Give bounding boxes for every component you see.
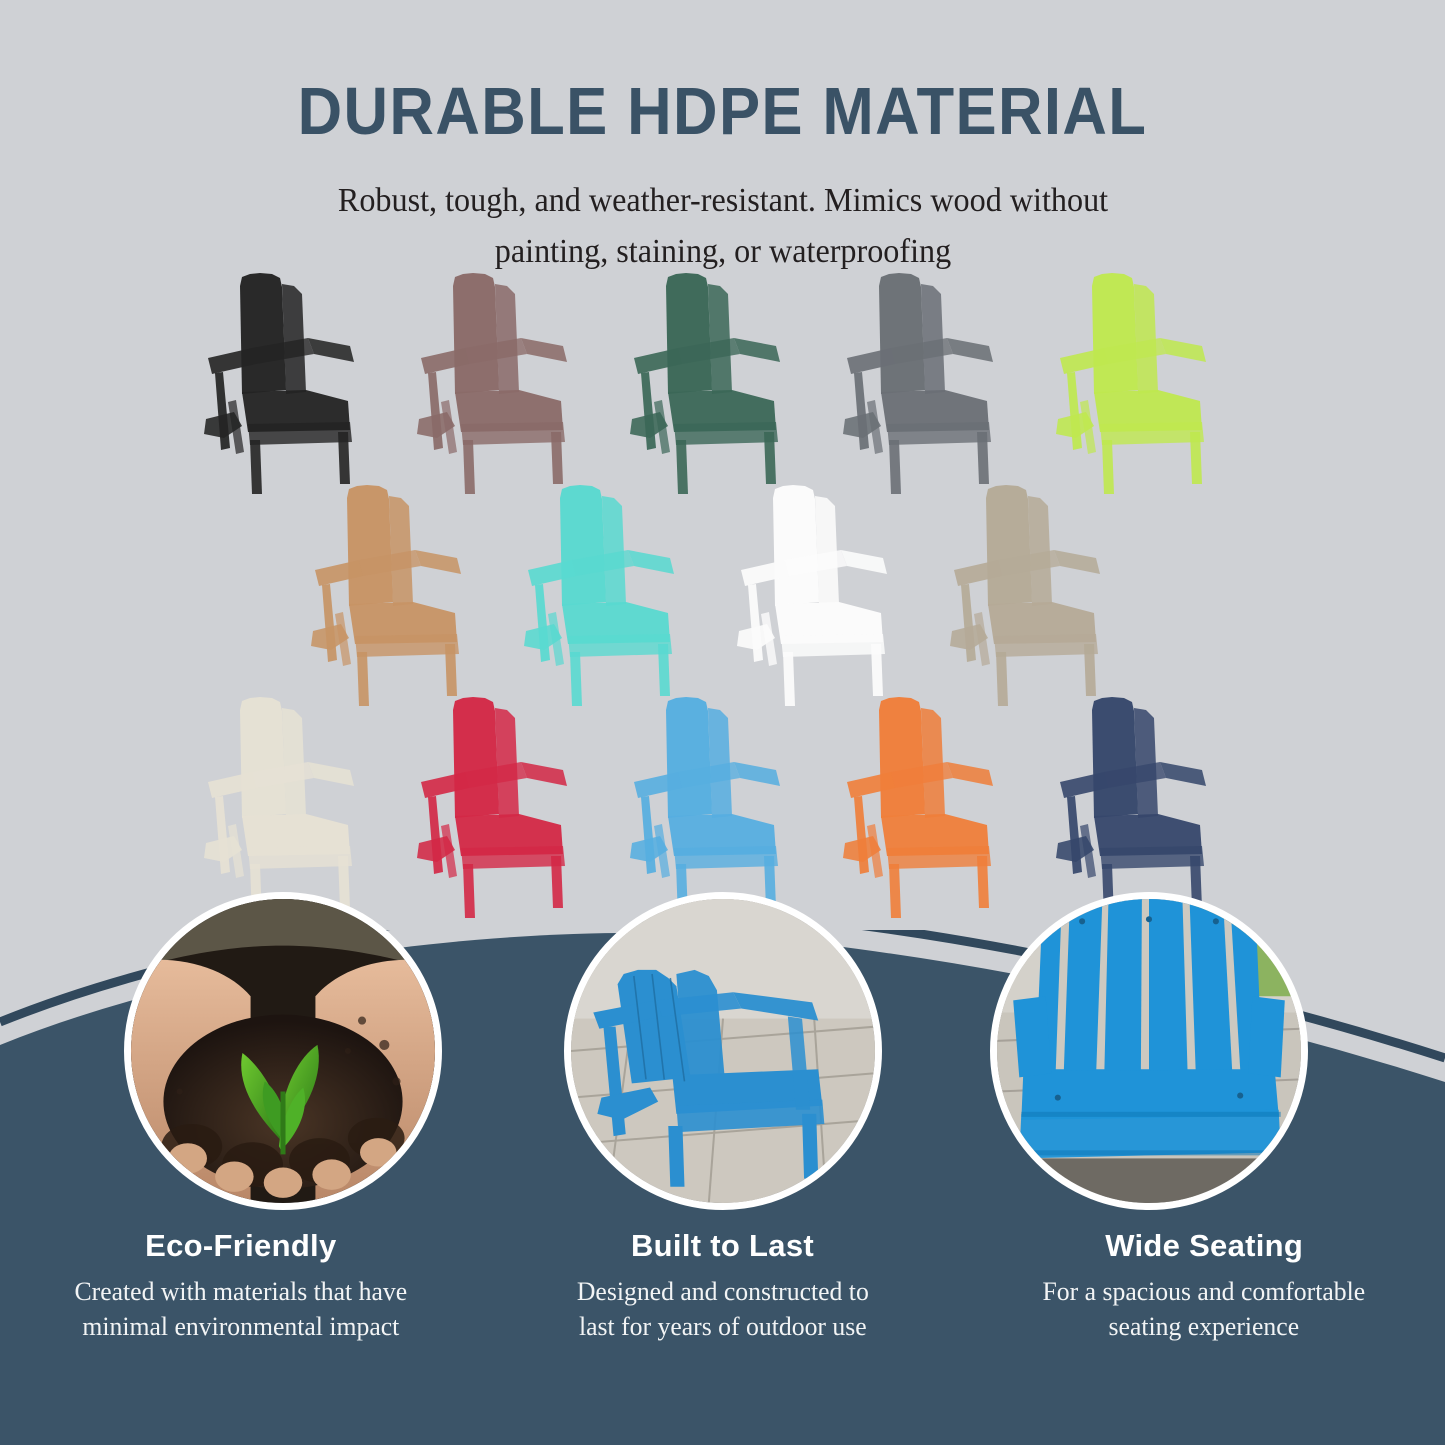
adirondack-chair-icon [829, 696, 1042, 921]
adirondack-chair-icon [403, 696, 616, 921]
adirondack-chair-icon [510, 484, 723, 709]
feature-desc-line-2: minimal environmental impact [82, 1311, 399, 1341]
feature-desc-line-1: Designed and constructed to [577, 1276, 869, 1306]
adirondack-chair-icon [1042, 696, 1255, 921]
chair-swatch-navy-blue[interactable] [1042, 696, 1255, 921]
feature-desc-line-2: last for years of outdoor use [579, 1311, 867, 1341]
feature-desc-line-1: Created with materials that have [75, 1276, 408, 1306]
chair-color-grid [0, 272, 1445, 917]
feature-eco-friendly: Eco-Friendly Created with materials that… [0, 1228, 482, 1408]
feature-text-row: Eco-Friendly Created with materials that… [0, 1228, 1445, 1408]
adirondack-chair-icon [616, 696, 829, 921]
chair-swatch-teak[interactable] [297, 484, 510, 709]
adirondack-chair-icon [190, 272, 403, 497]
feature-title: Built to Last [496, 1228, 950, 1264]
chair-swatch-weathered-wood[interactable] [936, 484, 1149, 709]
feature-description: Created with materials that have minimal… [21, 1274, 461, 1344]
chair-swatch-white[interactable] [723, 484, 936, 709]
chair-swatch-dark-green[interactable] [616, 272, 829, 497]
feature-description: Designed and constructed to last for yea… [502, 1274, 942, 1344]
feature-photo-row [0, 892, 1445, 1232]
chair-swatch-light-blue[interactable] [616, 696, 829, 921]
chair-swatch-lime-green[interactable] [1042, 272, 1255, 497]
page-title: DURABLE HDPE MATERIAL [58, 0, 1387, 146]
feature-desc-line-2: seating experience [1109, 1311, 1300, 1341]
chair-swatch-gray[interactable] [829, 272, 1042, 497]
adirondack-chair-icon [297, 484, 510, 709]
chair-row-3 [0, 696, 1445, 921]
hands-holding-seedling-photo [124, 892, 442, 1210]
adirondack-chair-icon [829, 272, 1042, 497]
blue-chair-wide-seat-closeup-photo [990, 892, 1308, 1210]
subtitle-line-2: painting, staining, or waterproofing [494, 233, 950, 270]
subtitle-line-1: Robust, tough, and weather-resistant. Mi… [337, 182, 1107, 219]
blue-chair-on-patio-photo [564, 892, 882, 1210]
feature-description: For a spacious and comfortable seating e… [984, 1274, 1424, 1344]
chair-swatch-brown[interactable] [403, 272, 616, 497]
adirondack-chair-icon [1042, 272, 1255, 497]
feature-desc-line-1: For a spacious and comfortable [1043, 1276, 1366, 1306]
infographic-page: DURABLE HDPE MATERIAL Robust, tough, and… [0, 0, 1445, 1445]
page-subtitle: Robust, tough, and weather-resistant. Mi… [247, 146, 1197, 278]
adirondack-chair-icon [936, 484, 1149, 709]
feature-title: Eco-Friendly [14, 1228, 468, 1264]
chair-swatch-black[interactable] [190, 272, 403, 497]
adirondack-chair-icon [616, 272, 829, 497]
chair-row-2 [0, 484, 1445, 709]
feature-built-to-last: Built to Last Designed and constructed t… [482, 1228, 964, 1408]
adirondack-chair-icon [190, 696, 403, 921]
chair-row-1 [0, 272, 1445, 497]
chair-swatch-orange[interactable] [829, 696, 1042, 921]
chair-swatch-ivory[interactable] [190, 696, 403, 921]
chair-swatch-turquoise[interactable] [510, 484, 723, 709]
header: DURABLE HDPE MATERIAL Robust, tough, and… [0, 0, 1445, 278]
adirondack-chair-icon [403, 272, 616, 497]
feature-wide-seating: Wide Seating For a spacious and comforta… [963, 1228, 1445, 1408]
adirondack-chair-icon [723, 484, 936, 709]
feature-title: Wide Seating [977, 1228, 1431, 1264]
chair-swatch-red[interactable] [403, 696, 616, 921]
